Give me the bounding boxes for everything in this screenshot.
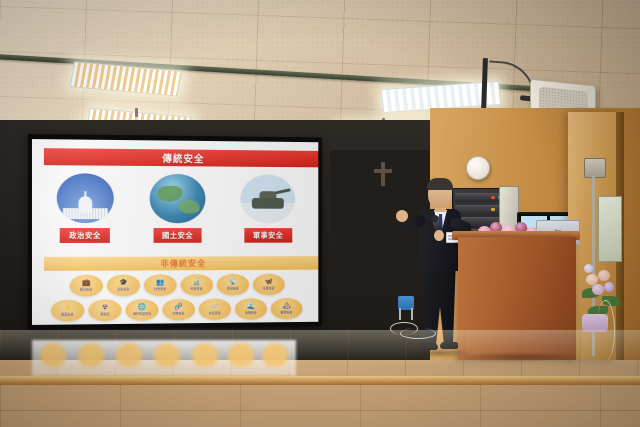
blue-stacking-chair[interactable] xyxy=(398,296,416,318)
auditorium-scene: 傳統安全 政治安全 國土安全 軍事安全 xyxy=(0,0,640,427)
category-item: 政治安全 xyxy=(38,173,132,251)
category-item: 國土安全 xyxy=(132,174,224,251)
security-icon-label: 經濟安全 xyxy=(80,287,92,291)
ceiling-fixture-stub xyxy=(135,108,138,117)
security-glyph-icon: ☢ xyxy=(102,305,108,312)
security-glyph-icon: 🦋 xyxy=(265,279,273,286)
nontraditional-icon-grid: 💼經濟安全🎓文化安全👥社會安全🔬科技安全📡資訊安全🦋生態安全 ⚡能源安全☢核安全… xyxy=(38,274,315,325)
nontraditional-title: 非傳統安全 xyxy=(161,257,207,269)
category-label: 國土安全 xyxy=(153,228,201,243)
security-icon-badge: 🦋生態安全 xyxy=(253,274,285,296)
security-glyph-icon: 👥 xyxy=(156,279,164,286)
stage-edge-trim xyxy=(0,376,640,385)
category-item: 軍事安全 xyxy=(223,174,313,250)
security-icon-badge: 💼經濟安全 xyxy=(70,275,103,297)
slide-title-banner: 傳統安全 xyxy=(44,148,318,167)
security-icon-label: 能源安全 xyxy=(61,312,73,316)
status-led xyxy=(491,208,495,211)
presentation-slide: 傳統安全 政治安全 國土安全 軍事安全 xyxy=(32,139,318,325)
security-icon-badge: 🪐太空安全 xyxy=(199,298,231,320)
wall-control-box[interactable] xyxy=(584,158,606,178)
security-icon-label: 海外利益安全 xyxy=(133,312,151,316)
security-icon-label: 文化安全 xyxy=(117,287,129,291)
security-glyph-icon: 🪐 xyxy=(211,304,219,311)
presenter-hair xyxy=(427,178,453,190)
security-icon-badge: 🧬生物安全 xyxy=(162,299,195,321)
tank-icon xyxy=(241,175,295,224)
traditional-security-row: 政治安全 國土安全 軍事安全 xyxy=(38,173,313,251)
projector-light-spill xyxy=(32,340,296,376)
security-icon-label: 核安全 xyxy=(100,312,109,316)
security-icon-badge: 🌐海外利益安全 xyxy=(125,299,158,321)
lectern-shadow xyxy=(452,352,584,362)
security-glyph-icon: 🌊 xyxy=(247,303,255,310)
security-icon-label: 太空安全 xyxy=(209,311,221,315)
stage-apron xyxy=(0,385,640,427)
wall-panel xyxy=(598,196,622,262)
security-icon-badge: 📡資訊安全 xyxy=(217,274,249,296)
presenter-hand-right xyxy=(434,230,444,241)
security-icon-badge: ☢核安全 xyxy=(88,299,121,321)
security-icon-badge: 🏔極地安全 xyxy=(271,298,303,320)
security-icon-label: 深海安全 xyxy=(245,311,257,315)
presenter-hand-left xyxy=(396,210,408,222)
security-icon-badge: 👥社會安全 xyxy=(144,274,177,296)
security-icon-label: 極地安全 xyxy=(281,310,293,314)
security-icon-label: 生物安全 xyxy=(173,311,185,315)
wall-cable xyxy=(596,300,615,361)
wall-cross-icon xyxy=(381,162,385,186)
security-icon-label: 科技安全 xyxy=(191,287,203,291)
security-glyph-icon: ⚡ xyxy=(63,305,72,312)
security-glyph-icon: 🔬 xyxy=(193,279,201,286)
security-glyph-icon: 🎓 xyxy=(119,280,127,287)
icon-row-1: 💼經濟安全🎓文化安全👥社會安全🔬科技安全📡資訊安全🦋生態安全 xyxy=(38,274,315,297)
security-icon-label: 生態安全 xyxy=(263,286,275,290)
status-led xyxy=(491,196,495,199)
apron-seam xyxy=(0,410,640,411)
projection-screen: 傳統安全 政治安全 國土安全 軍事安全 xyxy=(28,134,322,330)
security-icon-badge: 🔬科技安全 xyxy=(181,274,214,296)
security-icon-badge: 🌊深海安全 xyxy=(235,298,267,320)
slide-title: 傳統安全 xyxy=(162,150,204,165)
security-glyph-icon: 🌐 xyxy=(138,304,146,311)
security-glyph-icon: 💼 xyxy=(82,280,91,287)
category-label: 政治安全 xyxy=(60,228,110,243)
earth-globe-icon xyxy=(150,174,206,223)
category-label: 軍事安全 xyxy=(244,228,291,243)
icon-row-2: ⚡能源安全☢核安全🌐海外利益安全🧬生物安全🪐太空安全🌊深海安全🏔極地安全 xyxy=(38,298,315,322)
nontraditional-banner: 非傳統安全 xyxy=(44,256,318,271)
wall-clock-icon xyxy=(466,156,490,180)
capitol-building-icon xyxy=(56,173,113,223)
security-icon-badge: ⚡能源安全 xyxy=(51,300,85,322)
security-glyph-icon: 🧬 xyxy=(174,304,182,311)
floor-cable xyxy=(400,328,436,339)
security-icon-badge: 🎓文化安全 xyxy=(107,274,140,296)
security-icon-label: 社會安全 xyxy=(154,287,166,291)
security-icon-label: 資訊安全 xyxy=(227,286,239,290)
security-glyph-icon: 🏔 xyxy=(282,303,290,310)
security-glyph-icon: 📡 xyxy=(229,279,237,286)
